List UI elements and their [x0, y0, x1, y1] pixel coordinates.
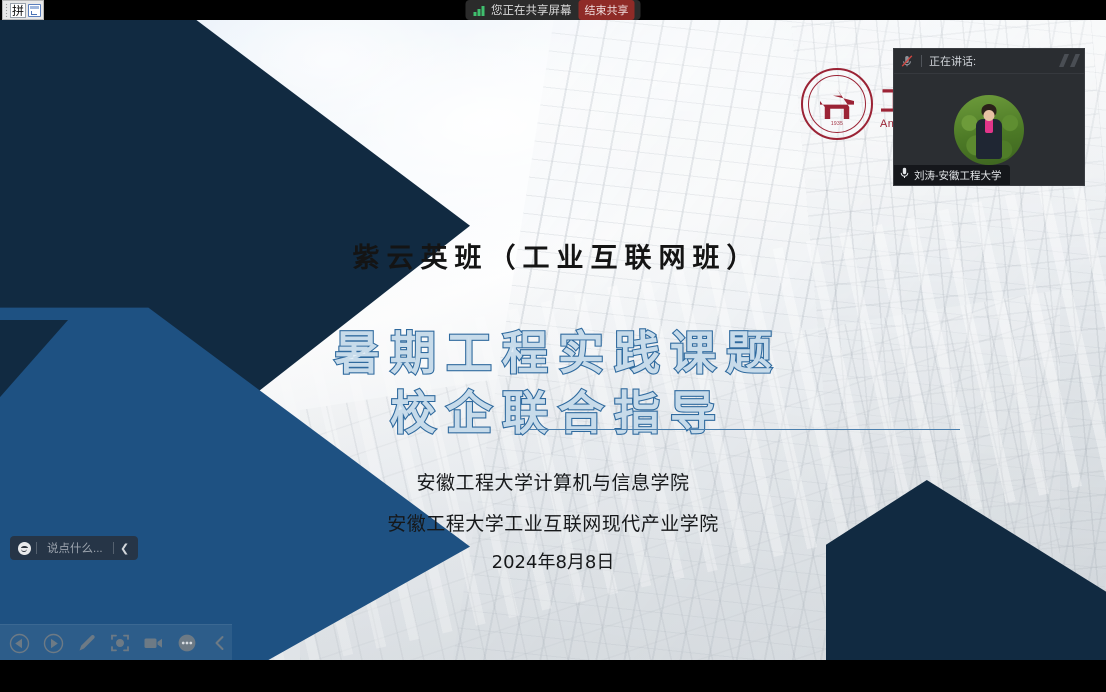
ime-indicator[interactable]: 拼 [2, 0, 44, 20]
university-logo-seal: 1935 [801, 68, 873, 140]
video-panel-divider [921, 55, 922, 67]
ime-panel-icon[interactable] [28, 4, 41, 17]
chevron-left-icon[interactable]: ❮ [114, 536, 136, 560]
next-slide-button[interactable] [41, 631, 64, 655]
microphone-icon [900, 166, 909, 184]
screen-share-status-pill: 您正在共享屏幕 结束共享 [466, 0, 641, 20]
microphone-muted-icon[interactable] [900, 54, 914, 68]
slide-subtitle-line-2: 安徽工程大学工业互联网现代产业学院 [0, 509, 1106, 536]
video-panel-header: 正在讲话: [894, 49, 1084, 74]
participant-name-badge: 刘涛-安徽工程大学 [894, 165, 1010, 185]
participant-name-label: 刘涛-安徽工程大学 [914, 168, 1002, 183]
annotate-pen-button[interactable] [75, 631, 98, 655]
seal-emblem-icon [820, 89, 854, 119]
speaking-status-label: 正在讲话: [929, 53, 976, 69]
signal-bars-icon [474, 5, 485, 16]
ime-drag-handle[interactable] [5, 3, 8, 17]
share-status-text: 您正在共享屏幕 [491, 2, 572, 18]
slide-headline-rule [528, 429, 960, 430]
bottom-letterbox [0, 660, 1106, 692]
presenter-toolbar [0, 624, 232, 660]
record-video-button[interactable] [142, 631, 165, 655]
video-panel-body[interactable]: 刘涛-安徽工程大学 [894, 74, 1084, 185]
spotlight-button[interactable] [108, 631, 131, 655]
slide-kicker-title: 紫云英班（工业互联网班） [0, 236, 1106, 275]
slide-headline-line-2: 校企联合指导 [0, 377, 1106, 443]
ime-mode-label[interactable]: 拼 [10, 3, 26, 18]
chat-input-field[interactable]: 说点什么... [37, 540, 113, 556]
end-share-button[interactable]: 结束共享 [579, 0, 635, 20]
double-chevron-icon[interactable] [1059, 54, 1080, 67]
speaker-video-panel[interactable]: 正在讲话: 刘涛-安徽工程大学 [893, 48, 1085, 186]
chat-input-bar[interactable]: 说点什么... ❮ [10, 536, 138, 560]
slide-headline-line-1: 暑期工程实践课题 [0, 317, 1106, 383]
collapse-toolbar-button[interactable] [209, 631, 232, 655]
slide-subtitle-line-1: 安徽工程大学计算机与信息学院 [0, 468, 1106, 495]
seal-year-label: 1935 [809, 121, 865, 127]
prev-slide-button[interactable] [8, 631, 31, 655]
slide-date: 2024年8月8日 [0, 548, 1106, 574]
emoji-smiley-icon[interactable] [12, 536, 36, 560]
system-top-bar: 拼 您正在共享屏幕 结束共享 [0, 0, 1106, 20]
more-options-button[interactable] [175, 631, 198, 655]
avatar [954, 95, 1024, 165]
seal-inner-ring: 1935 [808, 75, 866, 133]
